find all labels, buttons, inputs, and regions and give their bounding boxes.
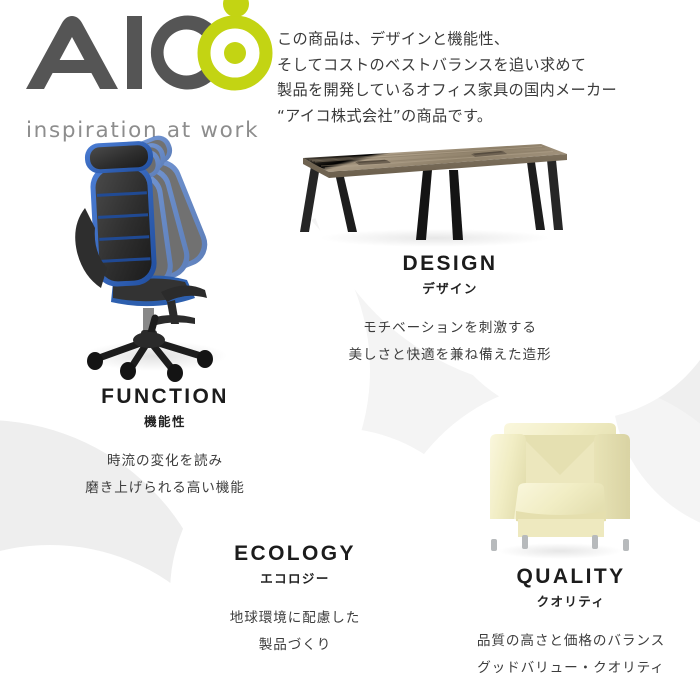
feature-ecology-title: ECOLOGY [160,542,430,565]
conference-table-svg [295,140,570,250]
logo-o-dot [224,42,246,64]
lounge-armchair-image [476,415,644,560]
feature-function-title: FUNCTION [40,385,290,408]
logo-tagline: inspiration at work [26,118,259,143]
feature-quality-description: 品質の高さと価格のバランス グッドバリュー・クオリティ [440,628,700,682]
feature-quality-desc-line-1: 品質の高さと価格のバランス [440,628,700,655]
feature-function-subtitle: 機能性 [40,415,290,429]
intro-paragraph: この商品は、デザインと機能性、 そしてコストのベストバランスを追い求めて 製品を… [277,27,697,129]
feature-design-description: モチベーションを刺激する 美しさと快適を兼ね備えた造形 [325,315,575,369]
logo-wordmark [22,18,270,93]
office-chair-svg [55,142,255,380]
intro-line-1: この商品は、デザインと機能性、 [277,27,697,53]
feature-design-desc-line-2: 美しさと快適を兼ね備えた造形 [325,342,575,369]
promo-banner: inspiration at work この商品は、デザインと機能性、 そしてコ… [0,0,700,700]
feature-ecology: ECOLOGY エコロジー 地球環境に配慮した 製品づくり [160,542,430,659]
feature-function-desc-line-1: 時流の変化を読み [40,448,290,475]
logo-o-accent-dot [223,0,249,17]
intro-line-3: 製品を開発しているオフィス家具の国内メーカー [277,78,697,104]
feature-design-desc-line-1: モチベーションを刺激する [325,315,575,342]
feature-design-title: DESIGN [325,252,575,275]
feature-function: FUNCTION 機能性 時流の変化を読み 磨き上げられる高い機能 [40,385,290,502]
intro-line-2: そしてコストのベストバランスを追い求めて [277,53,697,79]
aico-logo[interactable]: inspiration at work [18,18,270,140]
feature-function-description: 時流の変化を読み 磨き上げられる高い機能 [40,448,290,502]
intro-line-4: “アイコ株式会社”の商品です。 [277,104,697,130]
feature-design-subtitle: デザイン [325,282,575,296]
feature-quality-title: QUALITY [440,565,700,588]
office-chair-image [55,142,255,380]
conference-table-image [295,140,570,250]
feature-quality-subtitle: クオリティ [440,595,700,609]
feature-ecology-desc-line-1: 地球環境に配慮した [160,605,430,632]
feature-ecology-subtitle: エコロジー [160,572,430,586]
lounge-armchair-svg [476,415,644,560]
feature-design: DESIGN デザイン モチベーションを刺激する 美しさと快適を兼ね備えた造形 [325,252,575,369]
logo-wordmark-svg [22,13,270,93]
feature-function-desc-line-2: 磨き上げられる高い機能 [40,475,290,502]
feature-ecology-description: 地球環境に配慮した 製品づくり [160,605,430,659]
feature-quality: QUALITY クオリティ 品質の高さと価格のバランス グッドバリュー・クオリテ… [440,565,700,682]
feature-ecology-desc-line-2: 製品づくり [160,632,430,659]
feature-quality-desc-line-2: グッドバリュー・クオリティ [440,655,700,682]
